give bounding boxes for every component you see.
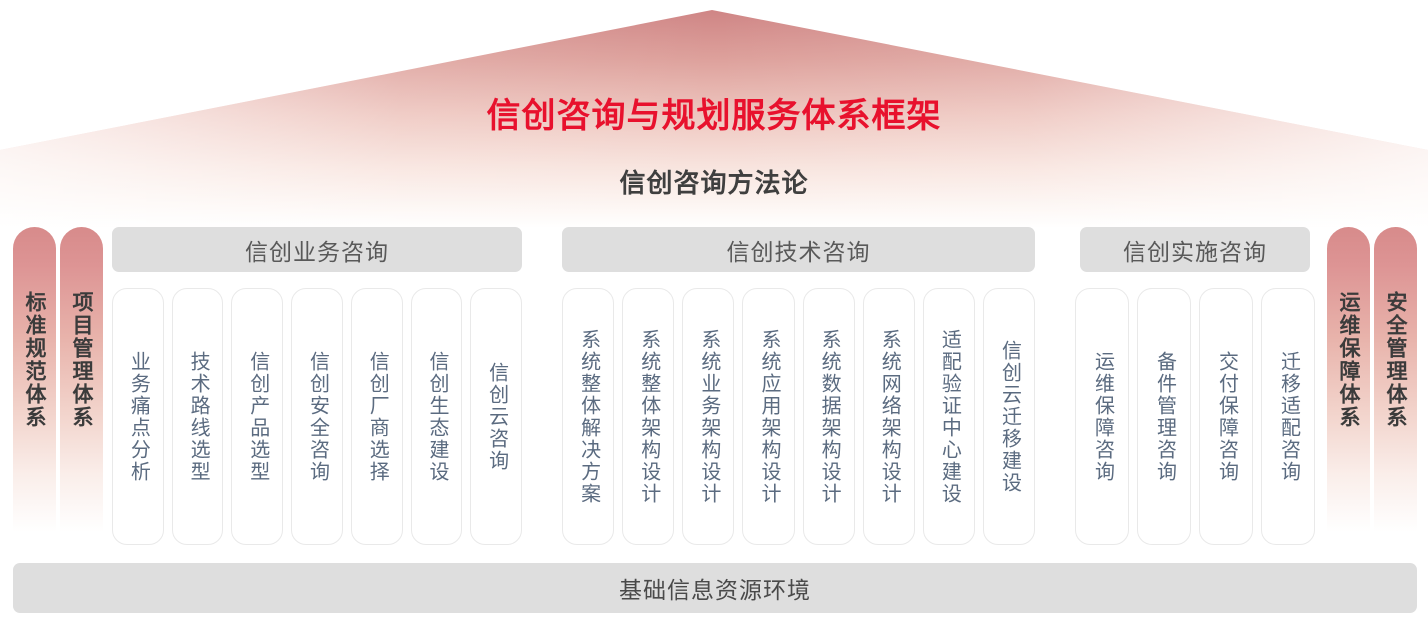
- card-item[interactable]: 系统业务架构设计: [682, 288, 734, 545]
- card-item[interactable]: 适配验证中心建设: [923, 288, 975, 545]
- card-item[interactable]: 信创云迁移建设: [983, 288, 1035, 545]
- card-label: 系统整体架构设计: [638, 329, 659, 505]
- card-label: 系统应用架构设计: [758, 329, 779, 505]
- card-item[interactable]: 信创云咨询: [470, 288, 522, 545]
- card-label: 业务痛点分析: [127, 351, 148, 483]
- card-item[interactable]: 系统整体架构设计: [622, 288, 674, 545]
- foundation-bar[interactable]: 基础信息资源环境: [13, 563, 1417, 613]
- card-label: 信创安全咨询: [307, 351, 328, 483]
- card-item[interactable]: 信创厂商选择: [351, 288, 403, 545]
- group-header[interactable]: 信创业务咨询: [112, 227, 522, 272]
- card-label: 迁移适配咨询: [1278, 351, 1299, 483]
- group-header[interactable]: 信创实施咨询: [1080, 227, 1310, 272]
- pillar-security-management[interactable]: 安全管理体系: [1374, 227, 1417, 545]
- card-item[interactable]: 系统网络架构设计: [863, 288, 915, 545]
- card-label: 备件管理咨询: [1154, 351, 1175, 483]
- card-label: 运维保障咨询: [1092, 351, 1113, 483]
- card-label: 信创厂商选择: [366, 351, 387, 483]
- group-header[interactable]: 信创技术咨询: [562, 227, 1035, 272]
- card-label: 信创云咨询: [486, 362, 507, 472]
- group-card-list: 业务痛点分析 技术路线选型 信创产品选型 信创安全咨询 信创厂商选择 信创生态建…: [112, 288, 522, 545]
- card-label: 信创产品选型: [247, 351, 268, 483]
- pillar-project-management[interactable]: 项目管理体系: [60, 227, 103, 545]
- group-card-list: 运维保障咨询 备件管理咨询 交付保障咨询 迁移适配咨询: [1075, 288, 1315, 545]
- card-item[interactable]: 系统数据架构设计: [803, 288, 855, 545]
- card-label: 系统整体解决方案: [578, 329, 599, 505]
- card-label: 技术路线选型: [187, 351, 208, 483]
- card-item[interactable]: 备件管理咨询: [1137, 288, 1191, 545]
- card-item[interactable]: 信创生态建设: [411, 288, 463, 545]
- card-label: 系统网络架构设计: [878, 329, 899, 505]
- diagram-canvas: 信创咨询与规划服务体系框架 信创咨询方法论 标准规范体系 项目管理体系 运维保障…: [0, 0, 1428, 627]
- pillar-label: 项目管理体系: [60, 227, 103, 545]
- group-card-list: 系统整体解决方案 系统整体架构设计 系统业务架构设计 系统应用架构设计 系统数据…: [562, 288, 1035, 545]
- card-label: 适配验证中心建设: [938, 329, 959, 505]
- card-label: 交付保障咨询: [1216, 351, 1237, 483]
- card-item[interactable]: 交付保障咨询: [1199, 288, 1253, 545]
- pillar-ops-guarantee[interactable]: 运维保障体系: [1327, 227, 1370, 545]
- card-item[interactable]: 系统整体解决方案: [562, 288, 614, 545]
- card-label: 信创生态建设: [426, 351, 447, 483]
- card-item[interactable]: 信创产品选型: [231, 288, 283, 545]
- pillar-label: 标准规范体系: [13, 227, 56, 545]
- pillar-label: 安全管理体系: [1374, 227, 1417, 545]
- card-label: 系统数据架构设计: [818, 329, 839, 505]
- card-item[interactable]: 运维保障咨询: [1075, 288, 1129, 545]
- card-item[interactable]: 业务痛点分析: [112, 288, 164, 545]
- card-item[interactable]: 信创安全咨询: [291, 288, 343, 545]
- card-item[interactable]: 系统应用架构设计: [742, 288, 794, 545]
- card-item[interactable]: 技术路线选型: [172, 288, 224, 545]
- card-label: 系统业务架构设计: [698, 329, 719, 505]
- group-implementation-consulting: 信创实施咨询 运维保障咨询 备件管理咨询 交付保障咨询 迁移适配咨询: [1075, 227, 1315, 545]
- group-technology-consulting: 信创技术咨询 系统整体解决方案 系统整体架构设计 系统业务架构设计 系统应用架构…: [562, 227, 1035, 545]
- pillar-standard-spec[interactable]: 标准规范体系: [13, 227, 56, 545]
- pillar-label: 运维保障体系: [1327, 227, 1370, 545]
- page-title: 信创咨询与规划服务体系框架: [0, 96, 1428, 137]
- page-subtitle: 信创咨询方法论: [0, 168, 1428, 199]
- group-business-consulting: 信创业务咨询 业务痛点分析 技术路线选型 信创产品选型 信创安全咨询 信创厂商选…: [112, 227, 522, 545]
- card-label: 信创云迁移建设: [998, 340, 1019, 494]
- card-item[interactable]: 迁移适配咨询: [1261, 288, 1315, 545]
